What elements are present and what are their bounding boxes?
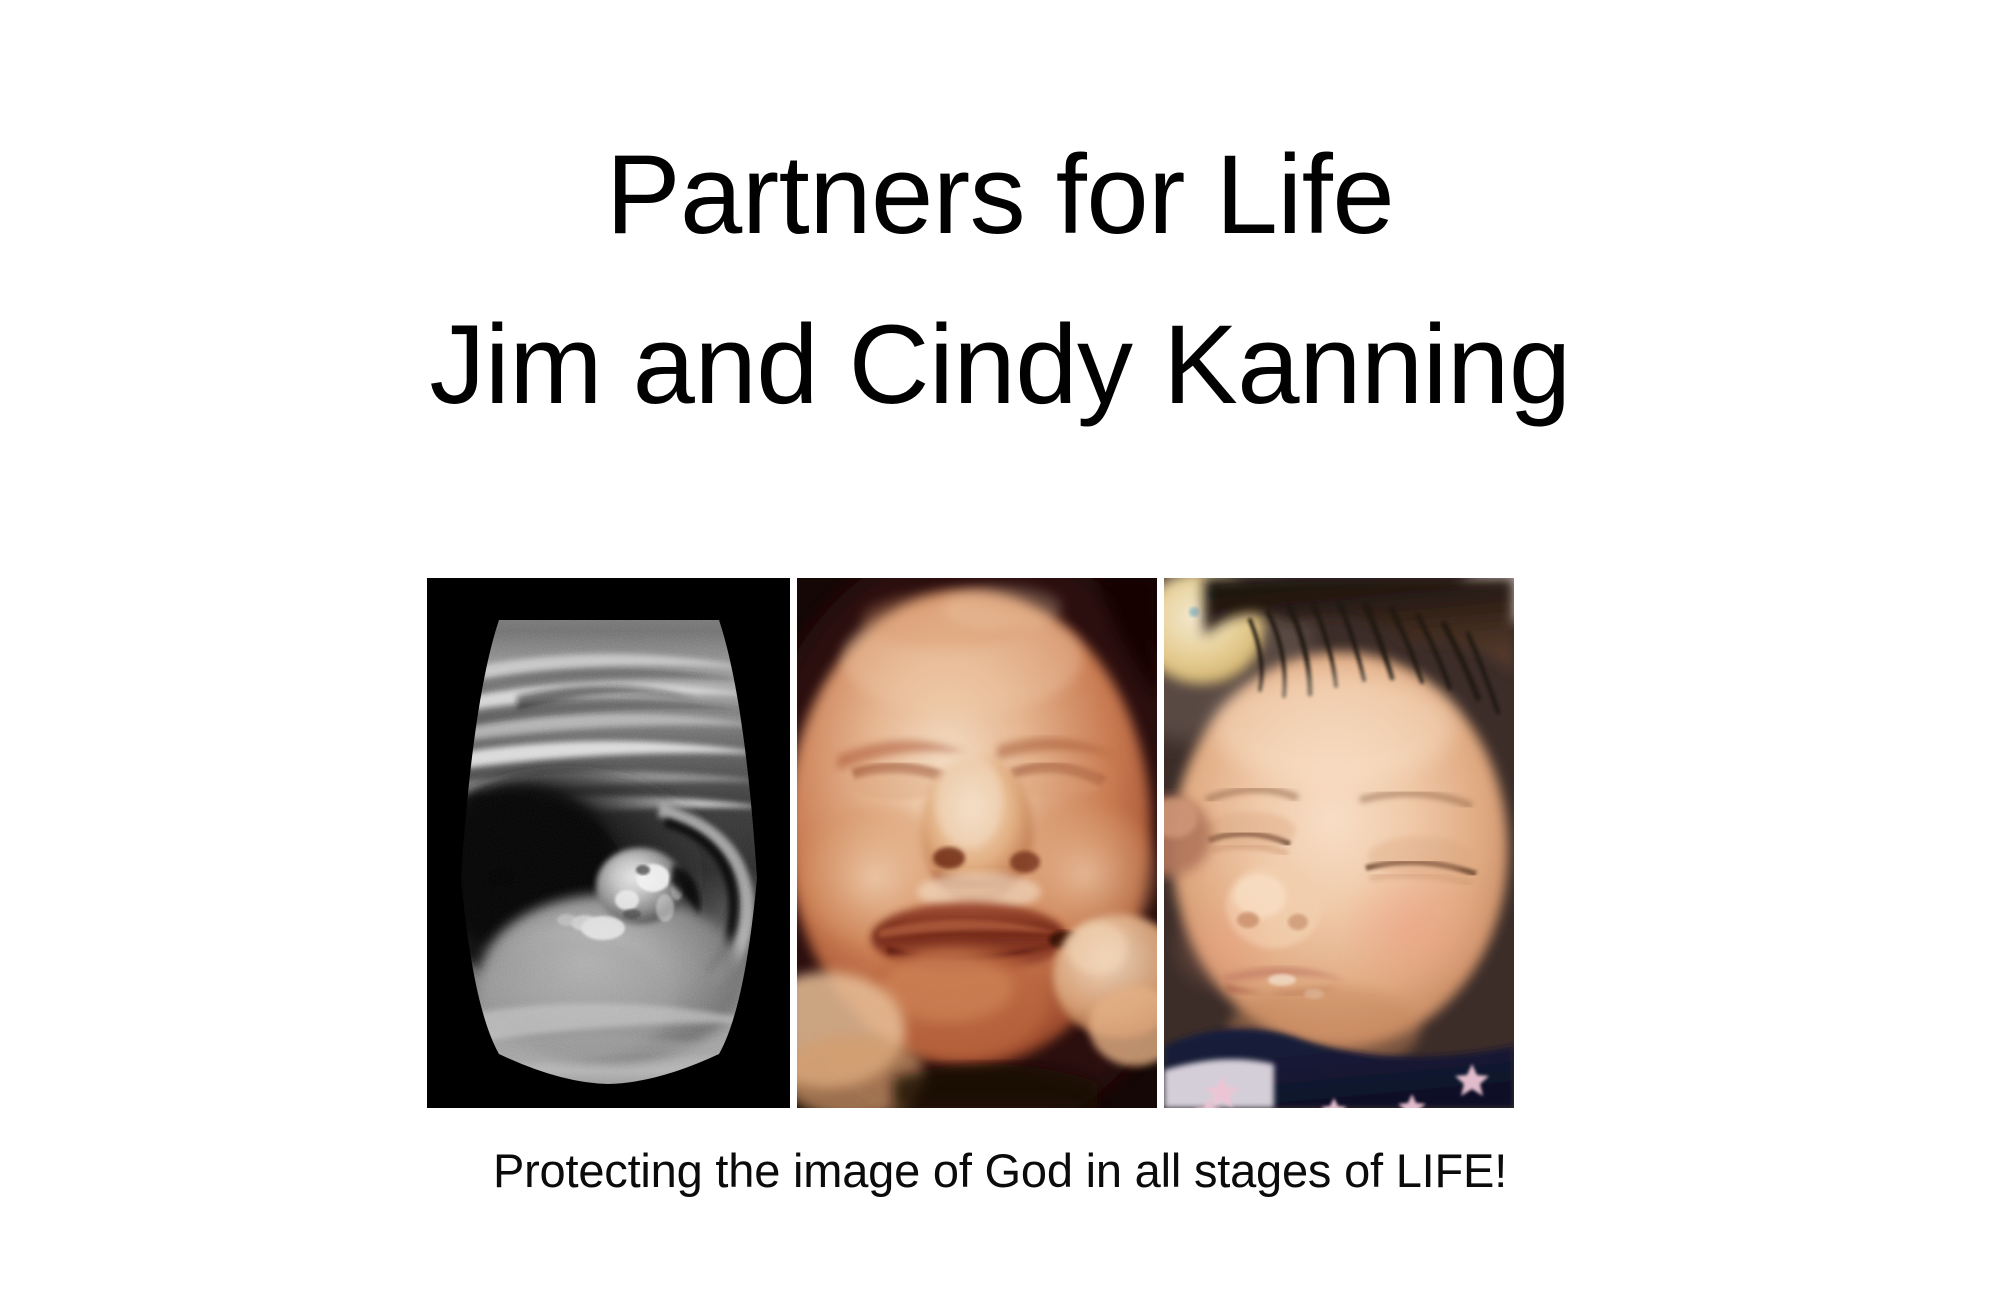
ultrasound-2d-graphic	[427, 578, 790, 1108]
slide-canvas: Partners for Life Jim and Cindy Kanning	[0, 0, 2000, 1294]
ultrasound-2d-image	[427, 578, 790, 1108]
photo-strip	[427, 578, 1513, 1108]
title-block: Partners for Life Jim and Cindy Kanning	[0, 110, 2000, 450]
ultrasound-3d-graphic	[797, 578, 1157, 1108]
page-title-line-1: Partners for Life	[0, 110, 2000, 280]
caption-text: Protecting the image of God in all stage…	[0, 1143, 2000, 1199]
ultrasound-3d-image	[797, 578, 1157, 1108]
page-title-line-2: Jim and Cindy Kanning	[0, 280, 2000, 450]
newborn-photo-image	[1164, 578, 1514, 1108]
newborn-photo-graphic	[1164, 578, 1514, 1108]
